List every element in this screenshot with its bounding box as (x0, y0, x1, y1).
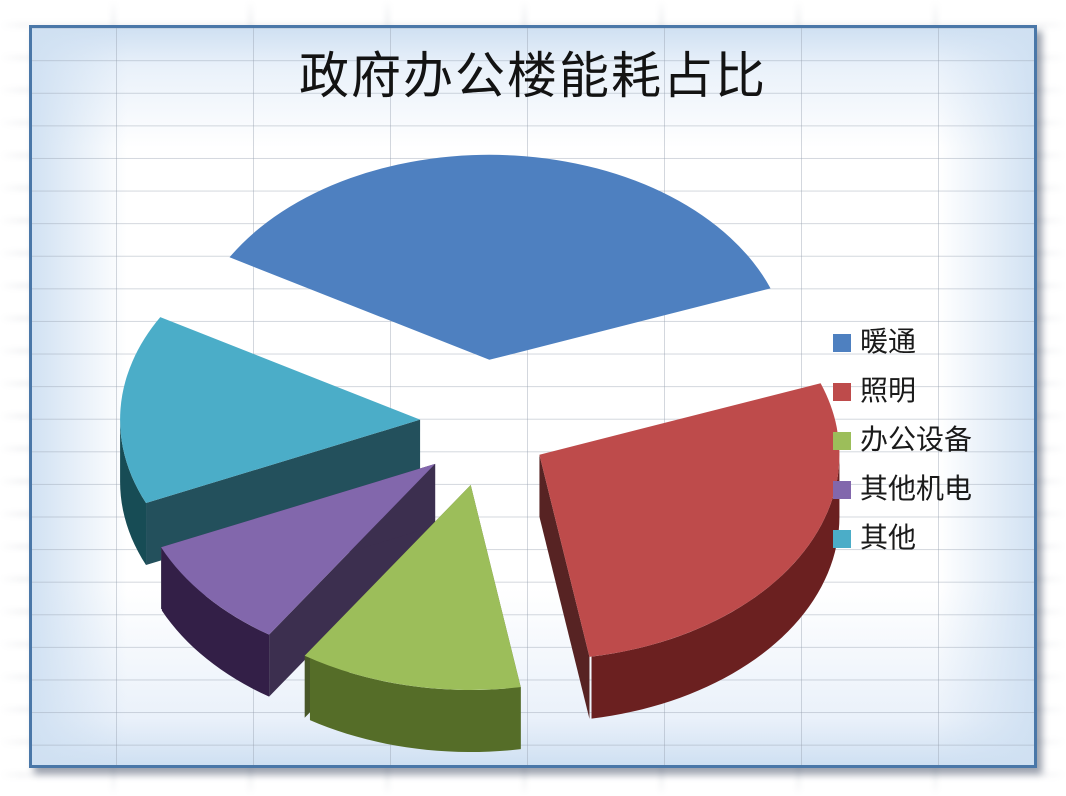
legend-item-label: 办公设备 (860, 427, 972, 455)
legend-item-label: 暖通 (860, 329, 916, 357)
legend-item[interactable]: 暖通 (833, 324, 1008, 361)
pie-slice-group (120, 155, 839, 752)
legend-item[interactable]: 办公设备 (833, 422, 1008, 459)
legend-item-label: 其他机电 (860, 476, 972, 504)
chart-panel: 政府办公楼能耗占比 暖通照明办公设备其他机电其他 (29, 25, 1037, 768)
legend-swatch-lighting (833, 383, 851, 401)
chart-legend: 暖通照明办公设备其他机电其他 (833, 324, 1008, 557)
pie-slice-照明[interactable] (539, 383, 839, 719)
page-title: 政府办公楼能耗占比 (32, 50, 1034, 103)
legend-swatch-heating (833, 334, 851, 352)
legend-item[interactable]: 其他 (833, 520, 1008, 557)
pie-slice-暖通[interactable] (230, 155, 771, 360)
legend-item[interactable]: 其他机电 (833, 471, 1008, 508)
legend-swatch-office-equipment (833, 432, 851, 450)
slide-canvas: 政府办公楼能耗占比 暖通照明办公设备其他机电其他 (0, 0, 1066, 796)
legend-item-label: 照明 (860, 378, 916, 406)
legend-swatch-other (833, 530, 851, 548)
legend-item[interactable]: 照明 (833, 373, 1008, 410)
pie-slice-top[interactable] (230, 155, 771, 360)
legend-swatch-other-mep (833, 481, 851, 499)
legend-item-label: 其他 (860, 525, 916, 553)
